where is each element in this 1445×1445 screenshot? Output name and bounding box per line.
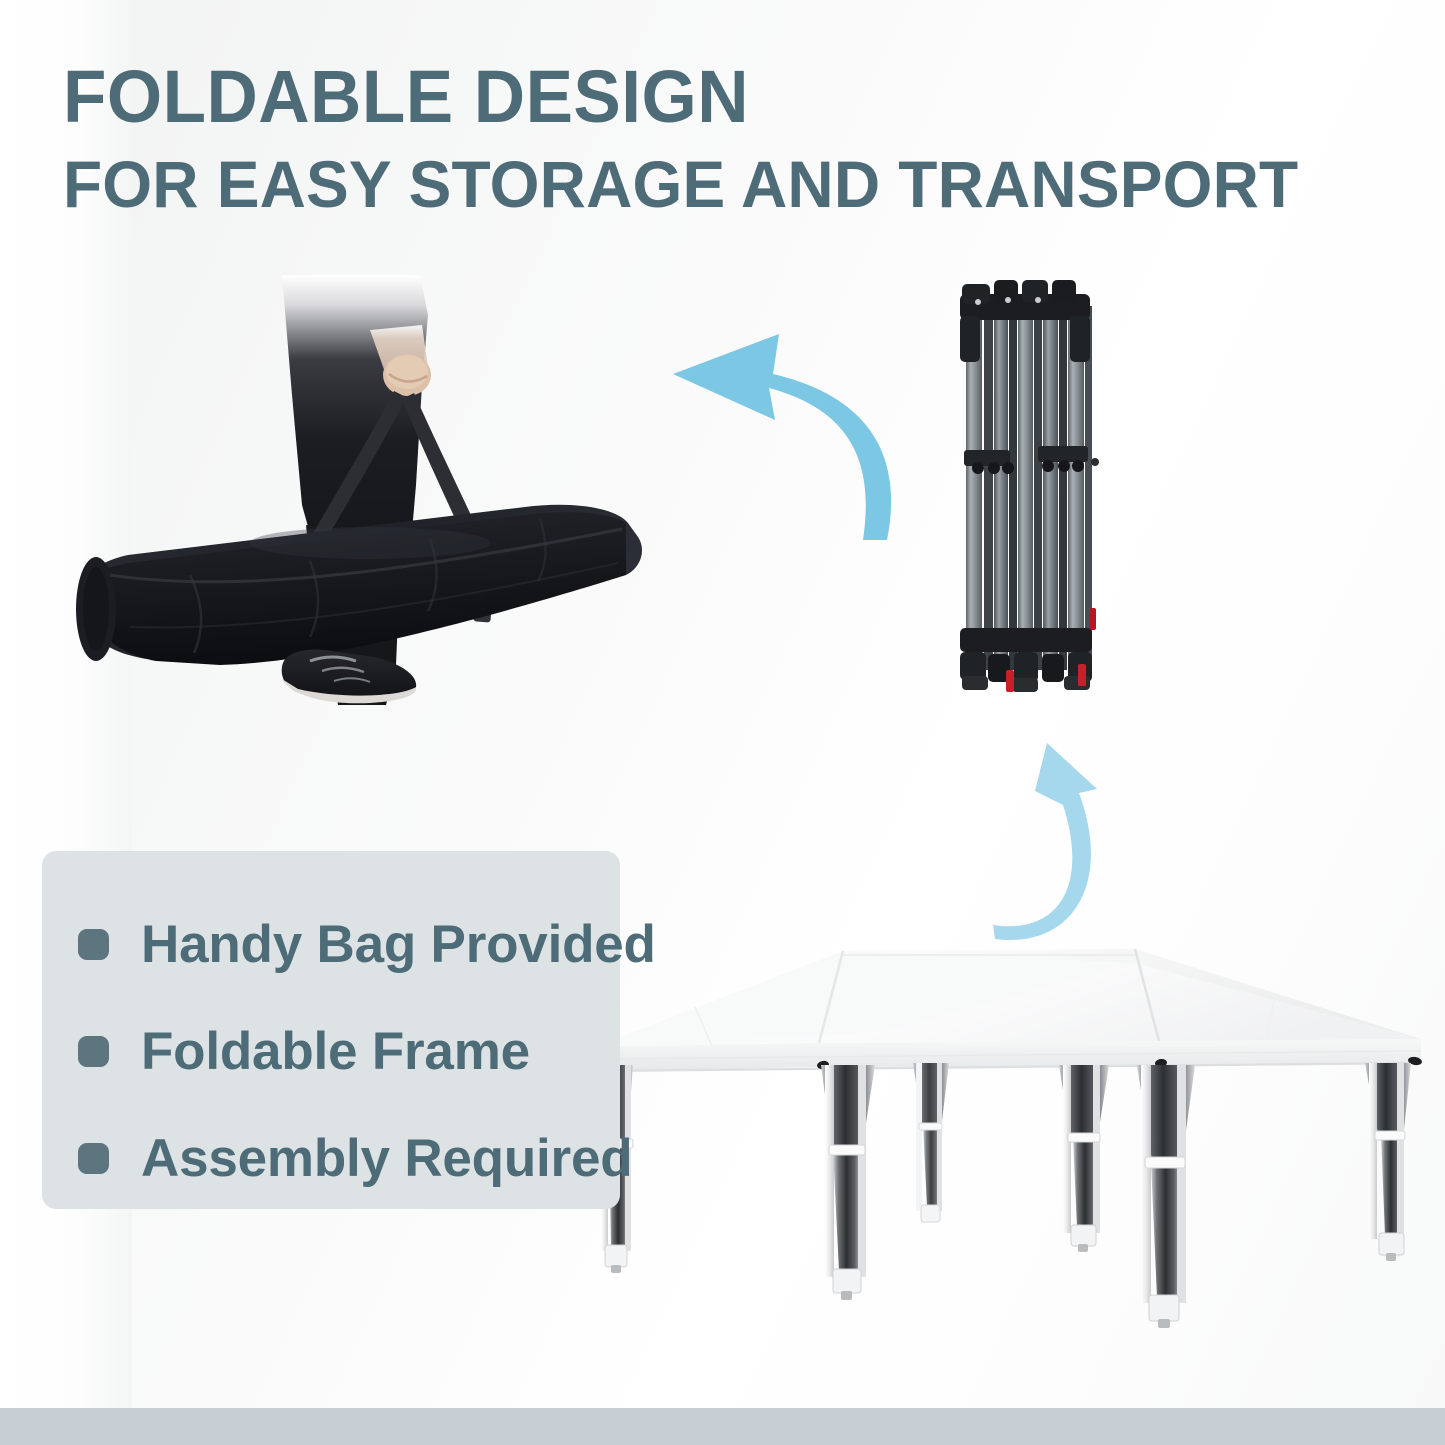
list-item: Assembly Required — [78, 1119, 718, 1198]
feature-label: Assembly Required — [141, 1131, 632, 1187]
list-item: Handy Bag Provided — [78, 905, 718, 984]
list-item: Foldable Frame — [78, 1012, 718, 1091]
bullet-square-icon — [78, 929, 109, 960]
heading-line-2: FOR EASY STORAGE AND TRANSPORT — [63, 150, 1353, 218]
arrow-frame-to-bag-icon — [655, 312, 985, 542]
frame-release-tab — [1078, 664, 1086, 686]
gazebo-leg — [913, 1063, 949, 1222]
page-title: FOLDABLE DESIGN FOR EASY STORAGE AND TRA… — [63, 60, 1393, 218]
feature-label: Handy Bag Provided — [141, 917, 656, 973]
heading-line-1: FOLDABLE DESIGN — [63, 60, 1340, 134]
bullet-square-icon — [78, 1036, 109, 1067]
infographic-canvas: FOLDABLE DESIGN FOR EASY STORAGE AND TRA… — [0, 0, 1445, 1445]
gazebo-canopy — [595, 949, 1423, 1072]
frame-release-tab — [1006, 670, 1014, 692]
gazebo-leg — [1059, 1065, 1109, 1252]
gazebo-legs — [599, 1063, 1411, 1328]
gazebo-leg — [1137, 1065, 1195, 1328]
bullet-square-icon — [78, 1143, 109, 1174]
carry-bag-photo — [70, 275, 660, 715]
gazebo-leg — [1365, 1063, 1411, 1261]
bottom-accent-bar — [0, 1408, 1445, 1445]
gazebo-leg — [821, 1065, 875, 1300]
feature-list: Handy Bag Provided Foldable Frame Assemb… — [78, 905, 718, 1198]
feature-label: Foldable Frame — [141, 1024, 530, 1080]
